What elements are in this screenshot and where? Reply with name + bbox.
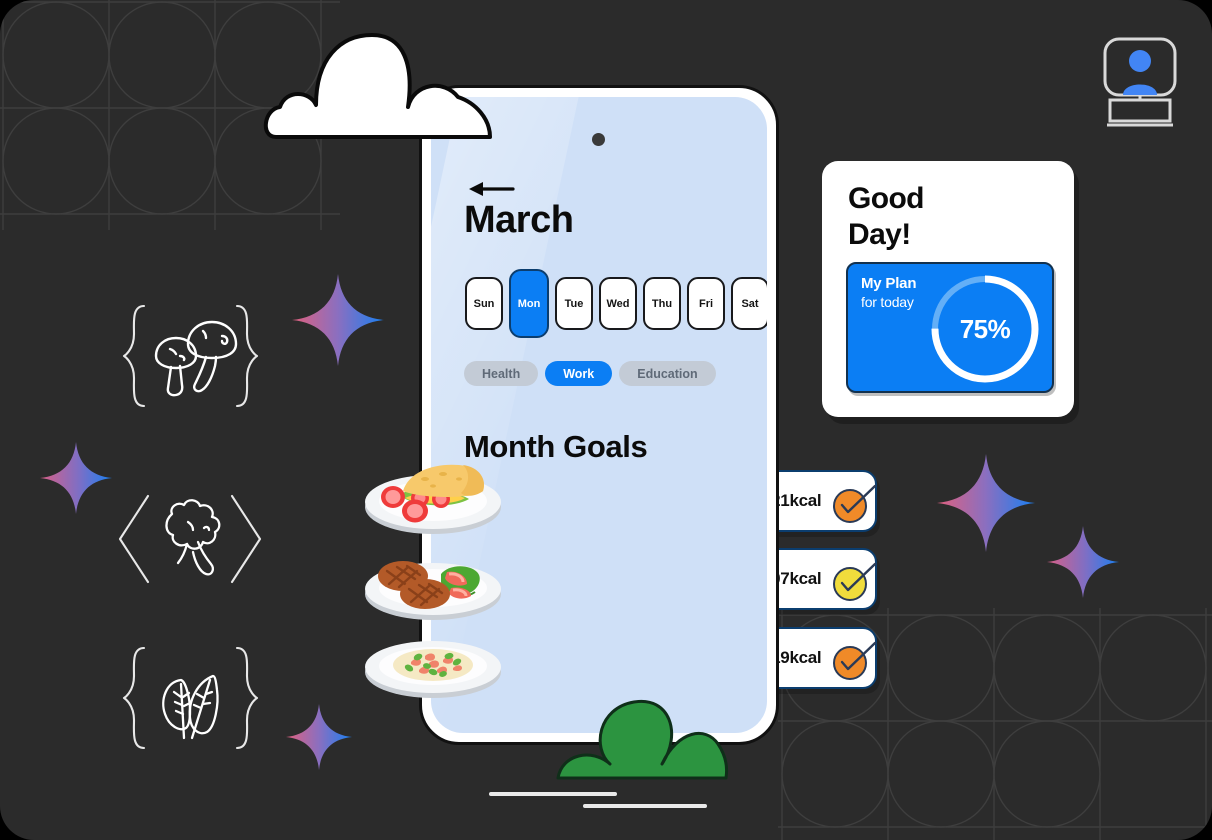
sparkle-icon (286, 702, 352, 772)
leaf-bush-shape (548, 690, 744, 791)
weekday-selector[interactable]: Sun Mon Tue Wed Thu Fri Sat (465, 269, 767, 338)
sandwich-with-tomato-plate (363, 455, 503, 542)
category-filter-tabs[interactable]: Health Work Education (464, 361, 716, 386)
sparkle-icon (1047, 524, 1119, 600)
day-chip-tue[interactable]: Tue (555, 277, 593, 330)
progress-percent-label: 75% (924, 268, 1046, 390)
goal-check-badge[interactable] (833, 641, 867, 675)
sparkle-icon (292, 272, 384, 368)
shrimp-pea-risotto-plate (363, 624, 503, 707)
tab-health[interactable]: Health (464, 361, 538, 386)
broccoli-icon-group (116, 492, 264, 587)
tab-work[interactable]: Work (545, 361, 612, 386)
day-chip-fri[interactable]: Fri (687, 277, 725, 330)
page-title: March (464, 199, 573, 242)
goal-check-badge[interactable] (833, 484, 867, 518)
day-chip-sun[interactable]: Sun (465, 277, 503, 330)
day-chip-sat[interactable]: Sat (731, 277, 767, 330)
base-line (489, 792, 617, 796)
goal-check-badge[interactable] (833, 562, 867, 596)
grilled-steak-salad-plate (363, 544, 503, 629)
person-on-screen-icon[interactable] (1102, 36, 1178, 133)
day-chip-mon[interactable]: Mon (509, 269, 549, 338)
mushrooms-icon-group (118, 300, 263, 430)
plan-label: My Plan for today (861, 275, 916, 311)
day-chip-thu[interactable]: Thu (643, 277, 681, 330)
cloud-shape (262, 25, 502, 150)
tab-education[interactable]: Education (619, 361, 715, 386)
day-chip-wed[interactable]: Wed (599, 277, 637, 330)
app-canvas: March Sun Mon Tue Wed Thu Fri Sat Health… (0, 0, 1212, 840)
spinach-leaves-icon-group (118, 642, 263, 772)
camera-dot-icon (592, 133, 605, 146)
sparkle-icon (937, 452, 1035, 554)
my-plan-card[interactable]: My Plan for today 75% (846, 262, 1054, 393)
sparkle-icon (40, 440, 112, 516)
good-day-card: Good Day! My Plan for today 75% (822, 161, 1074, 417)
greeting-title: Good Day! (848, 181, 924, 253)
base-line (583, 804, 707, 808)
